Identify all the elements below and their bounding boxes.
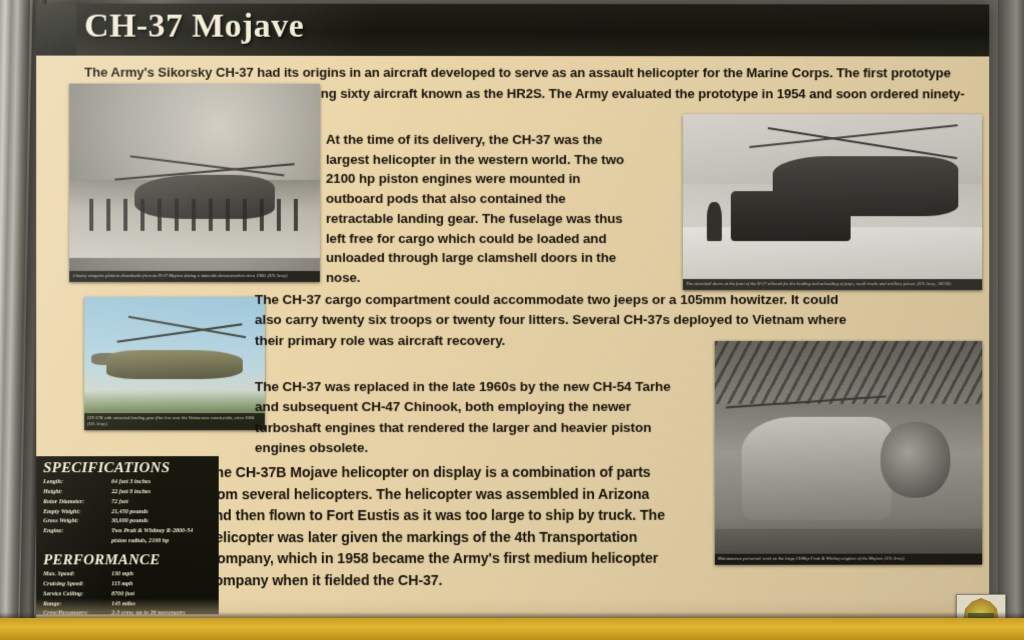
display-paragraph: The CH-37B Mojave helicopter on display … xyxy=(207,463,677,593)
header-left-tab xyxy=(36,3,76,55)
spec-value: 21,450 pounds xyxy=(111,508,212,518)
spec-value: 64 feet 3 inches xyxy=(111,478,212,488)
spec-row: Empty Weight: 21,450 pounds xyxy=(43,508,212,518)
spec-value: piston radials, 2100 hp xyxy=(111,537,212,547)
sign-board: CH-37 Mojave The Army's Sikorsky CH-37 h… xyxy=(36,3,989,628)
photo-ch37b-in-flight: CH-37B with retracted landing gear flies… xyxy=(84,297,264,430)
spec-label: Gross Weight: xyxy=(43,518,111,528)
performance-row: Max. Speed: 130 mph xyxy=(43,570,212,580)
spec-row: Rotor Diameter: 72 feet xyxy=(43,498,212,508)
hangar-roof-decor xyxy=(715,341,982,404)
specifications-panel: SPECIFICATIONS Length: 64 feet 3 inches … xyxy=(36,456,218,614)
photo-maintenance-personnel-image xyxy=(715,341,982,565)
spec-row: Gross Weight: 30,000 pounds xyxy=(43,518,212,528)
sign-header-band: CH-37 Mojave xyxy=(36,3,989,56)
spec-row: Engine: Two Pratt & Whitney R-2800-54 xyxy=(43,528,212,538)
spec-label: Rotor Diameter: xyxy=(43,498,111,508)
spec-row-continuation: piston radials, 2100 hp xyxy=(43,537,212,547)
replacement-paragraph: The CH-37 was replaced in the late 1960s… xyxy=(255,377,695,459)
frame-rail-bottom xyxy=(0,618,1024,640)
photo-clamshell-doors-image xyxy=(683,114,982,290)
spec-value: 22 feet 0 inches xyxy=(111,488,212,498)
spec-row: Height: 22 feet 0 inches xyxy=(43,488,212,498)
spec-label: Empty Weight: xyxy=(43,508,111,518)
performance-value: 130 mph xyxy=(111,570,212,580)
soldier-decor xyxy=(707,202,722,241)
photo-caption: Maintenance personnel work on the large … xyxy=(715,554,982,565)
engine-pod-decor xyxy=(881,421,950,497)
photo-caption: The clamshell doors at the front of the … xyxy=(683,279,982,290)
spec-label: Length: xyxy=(43,478,111,488)
photo-maintenance-personnel: Maintenance personnel work on the large … xyxy=(715,341,982,565)
photo-troops-disembarking-image xyxy=(69,84,320,282)
photographed-interpretive-sign: CH-37 Mojave The Army's Sikorsky CH-37 h… xyxy=(0,0,1024,640)
photo-caption: CH-37B with retracted landing gear flies… xyxy=(84,413,264,430)
spec-label: Engine: xyxy=(43,528,111,538)
photo-clamshell-doors: The clamshell doors at the front of the … xyxy=(683,114,982,290)
delivery-paragraph: At the time of its delivery, the CH-37 w… xyxy=(326,130,626,288)
soldiers-silhouette-decor xyxy=(89,199,299,231)
spec-label: Height: xyxy=(43,488,111,498)
helicopter-body-decor xyxy=(106,350,243,379)
truck-decor xyxy=(731,192,851,241)
performance-heading: PERFORMANCE xyxy=(43,552,212,569)
specifications-rows: Length: 64 feet 3 inches Height: 22 feet… xyxy=(43,478,212,547)
photo-caption: A heavy weapons platoon disembarks from … xyxy=(69,271,320,282)
page-title: CH-37 Mojave xyxy=(84,8,304,46)
spec-value: Two Pratt & Whitney R-2800-54 xyxy=(111,528,212,538)
spec-value: 72 feet xyxy=(111,498,212,508)
performance-label: Cruising Speed: xyxy=(43,580,111,590)
performance-row: Cruising Speed: 115 mph xyxy=(43,580,212,590)
photo-ch37b-in-flight-image xyxy=(84,297,264,430)
photo-troops-disembarking: A heavy weapons platoon disembarks from … xyxy=(69,84,320,282)
rotor-blade-decor-2 xyxy=(128,316,246,339)
spec-row: Length: 64 feet 3 inches xyxy=(43,478,212,488)
frame-rail-right xyxy=(998,0,1024,640)
spec-value: 30,000 pounds xyxy=(111,518,212,528)
fuselage-decor xyxy=(742,417,892,520)
specifications-heading: SPECIFICATIONS xyxy=(43,460,212,477)
performance-label: Max. Speed: xyxy=(43,570,111,580)
performance-value: 115 mph xyxy=(111,580,212,590)
